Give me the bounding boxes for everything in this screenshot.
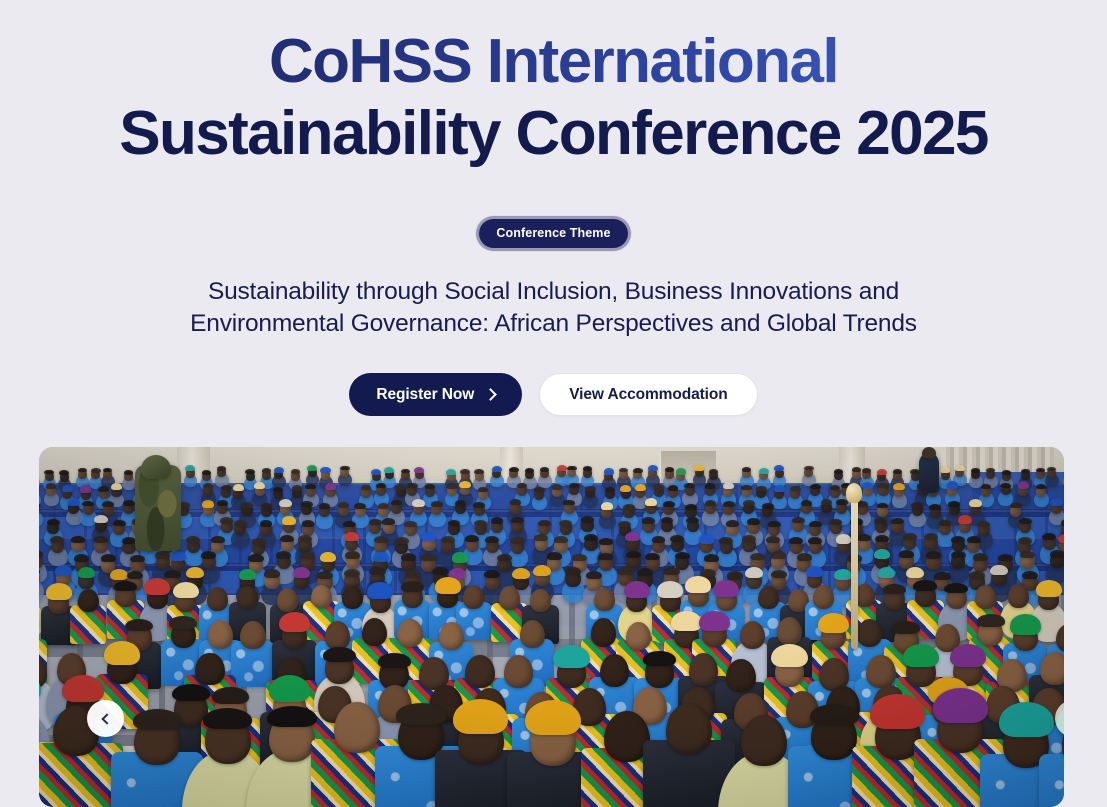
carousel-prev-button[interactable] <box>87 700 124 737</box>
title-line-secondary: Sustainability Conference 2025 <box>0 98 1107 170</box>
view-accommodation-button[interactable]: View Accommodation <box>539 373 757 416</box>
theme-text-line-1: Sustainability through Social Inclusion,… <box>139 276 969 308</box>
conference-theme-badge: Conference Theme <box>476 216 630 251</box>
cta-button-row: Register Now View Accommodation <box>349 373 757 416</box>
chevron-right-icon <box>484 388 497 401</box>
chevron-left-icon <box>101 713 112 724</box>
title-line-primary: CoHSS International <box>0 26 1107 98</box>
hero-section: CoHSS International Sustainability Confe… <box>0 0 1107 807</box>
register-now-label: Register Now <box>376 386 474 404</box>
register-now-button[interactable]: Register Now <box>349 373 522 416</box>
theme-badge-wrapper: Conference Theme <box>476 216 630 251</box>
hero-carousel[interactable] <box>39 447 1064 807</box>
conference-theme-text: Sustainability through Social Inclusion,… <box>139 276 969 340</box>
page-title: CoHSS International Sustainability Confe… <box>0 0 1107 170</box>
carousel-slide-image <box>39 447 1064 807</box>
theme-text-line-2: Environmental Governance: African Perspe… <box>139 308 969 340</box>
audience-crowd <box>39 447 1064 807</box>
